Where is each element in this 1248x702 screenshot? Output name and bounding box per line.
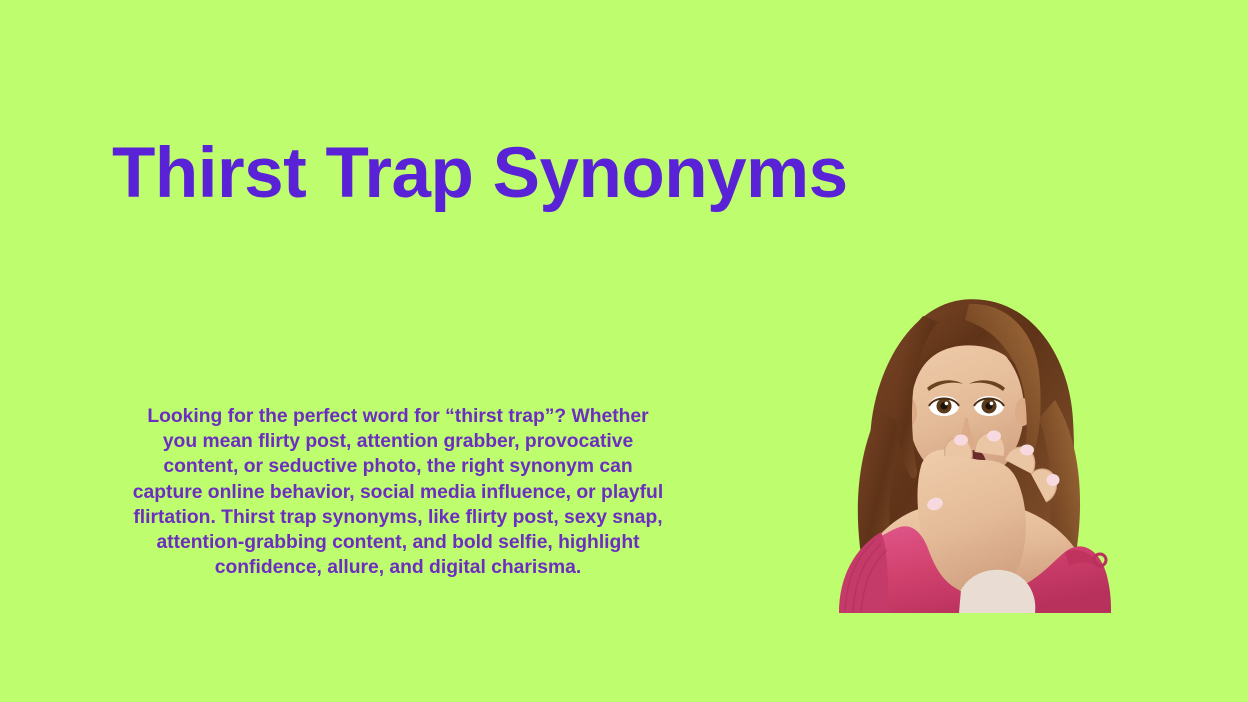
eye-right <box>974 396 1004 416</box>
nail-3 <box>1020 445 1034 456</box>
title-block: Thirst Trap Synonyms <box>112 138 772 210</box>
woman-photo <box>793 260 1133 613</box>
nail-1 <box>954 435 968 446</box>
nail-2 <box>987 431 1001 442</box>
slide-canvas: Thirst Trap Synonyms Looking for the per… <box>0 0 1248 702</box>
page-title: Thirst Trap Synonyms <box>112 138 772 210</box>
eye-left <box>929 396 959 416</box>
body-block: Looking for the perfect word for “thirst… <box>128 404 668 580</box>
woman-photo-illustration <box>793 260 1133 613</box>
nail-4 <box>1047 474 1060 486</box>
body-paragraph: Looking for the perfect word for “thirst… <box>128 404 668 580</box>
